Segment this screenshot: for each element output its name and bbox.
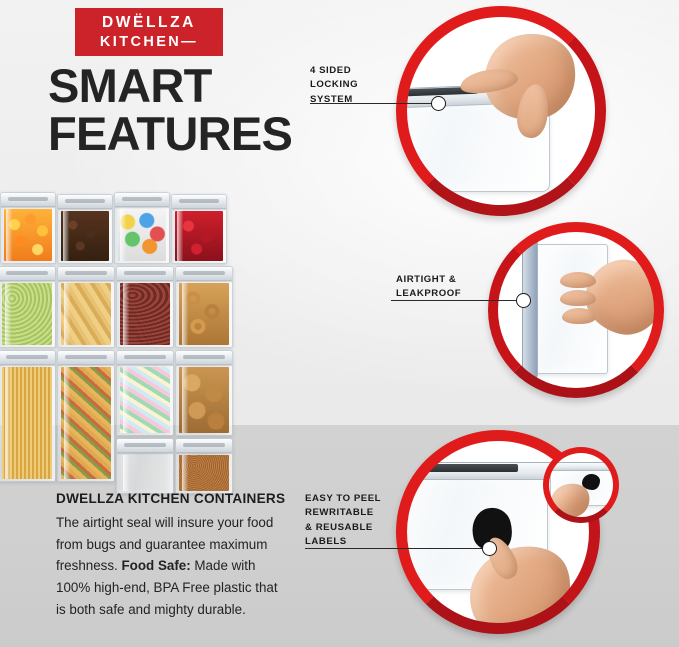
description-text: The airtight seal will insure your food … — [56, 512, 282, 621]
jar-brown-sugar — [175, 438, 233, 494]
jar-marshmallows — [116, 350, 174, 436]
jar-lid — [116, 438, 174, 453]
jar-lid — [175, 350, 233, 365]
jar-fill — [2, 283, 52, 345]
airtight-photo — [490, 224, 662, 396]
page-title-line1: SMART — [48, 62, 348, 110]
hand-finger — [560, 290, 596, 306]
jar-spaghetti — [0, 350, 56, 482]
page-title-line2: FEATURES — [48, 110, 348, 158]
jar-green-peas — [0, 266, 56, 348]
jar-fill — [118, 209, 166, 261]
jar-fill — [175, 211, 223, 261]
jar-fill — [179, 283, 229, 345]
jar-fill — [120, 367, 170, 433]
peel-label-inset — [544, 448, 618, 522]
jar-red-candies — [171, 194, 227, 264]
jar-chocolate-chips — [57, 194, 113, 264]
callout-leader-line-labels — [305, 548, 489, 549]
jar-fill — [120, 455, 170, 491]
callout-airtight-leakproof: AIRTIGHT & LEAKPROOF — [396, 273, 461, 302]
jar-lid — [0, 266, 56, 281]
jar-kidney-beans — [116, 266, 174, 348]
jar-lid — [116, 350, 174, 365]
jar-fill — [2, 367, 52, 479]
jar-lid — [171, 194, 227, 209]
locking-lid-photo — [398, 8, 604, 214]
callout-line: EASY TO PEEL — [305, 492, 381, 506]
jar-fill — [4, 209, 52, 261]
jar-fill — [179, 455, 229, 491]
brand-logo: DWËLLZA KITCHEN— — [75, 8, 223, 56]
jar-lid — [114, 192, 170, 207]
callout-line: SYSTEM — [310, 93, 358, 107]
brand-logo-line2: KITCHEN— — [100, 33, 198, 52]
container-lid — [548, 462, 618, 471]
description-heading: DWELLZA KITCHEN CONTAINERS — [56, 491, 285, 506]
description-bold-phrase: Food Safe: — [122, 558, 191, 573]
callout-anchor-dot-locking — [431, 96, 446, 111]
callout-line: AIRTIGHT & — [396, 273, 461, 287]
jar-gumballs — [114, 192, 170, 264]
jar-lid — [57, 194, 113, 209]
jar-lid — [57, 266, 115, 281]
lid-seal-strip — [410, 464, 518, 472]
jar-lid — [0, 350, 56, 365]
brand-logo-line1: DWËLLZA — [102, 13, 196, 33]
product-photo-container-stack — [0, 170, 234, 490]
jar-candy-corn — [0, 192, 56, 264]
container-lid-side — [522, 240, 538, 378]
callout-line: REWRITABLE — [305, 506, 381, 520]
callout-leader-line-locking — [310, 103, 438, 104]
jar-fill — [120, 283, 170, 345]
jar-lid — [0, 192, 56, 207]
callout-four-sided-locking-system: 4 SIDED LOCKING SYSTEM — [310, 64, 358, 107]
callout-line: 4 SIDED — [310, 64, 358, 78]
callout-easy-to-peel-labels: EASY TO PEEL REWRITABLE & REUSABLE LABEL… — [305, 492, 381, 550]
hand-finger — [560, 272, 596, 288]
jar-lid — [57, 350, 115, 365]
jar-pretzels — [175, 266, 233, 348]
jar-lid — [175, 438, 233, 453]
page-title: SMART FEATURES — [48, 62, 348, 159]
jar-fusilli — [57, 350, 115, 482]
callout-leader-line-airtight — [391, 300, 523, 301]
callout-line: & REUSABLE — [305, 521, 381, 535]
jar-pistachios — [116, 438, 174, 494]
jar-lid — [175, 266, 233, 281]
jar-lid — [116, 266, 174, 281]
jar-fill — [61, 367, 111, 479]
jar-fill — [179, 367, 229, 433]
callout-anchor-dot-labels — [482, 541, 497, 556]
callout-line: LOCKING — [310, 78, 358, 92]
jar-fill — [61, 211, 109, 261]
hand-finger — [562, 308, 596, 324]
jar-cookies — [175, 350, 233, 436]
infographic-canvas: DWËLLZA KITCHEN— SMART FEATURES — [0, 0, 679, 647]
callout-anchor-dot-airtight — [516, 293, 531, 308]
jar-fill — [61, 283, 111, 345]
jar-penne-pasta — [57, 266, 115, 348]
